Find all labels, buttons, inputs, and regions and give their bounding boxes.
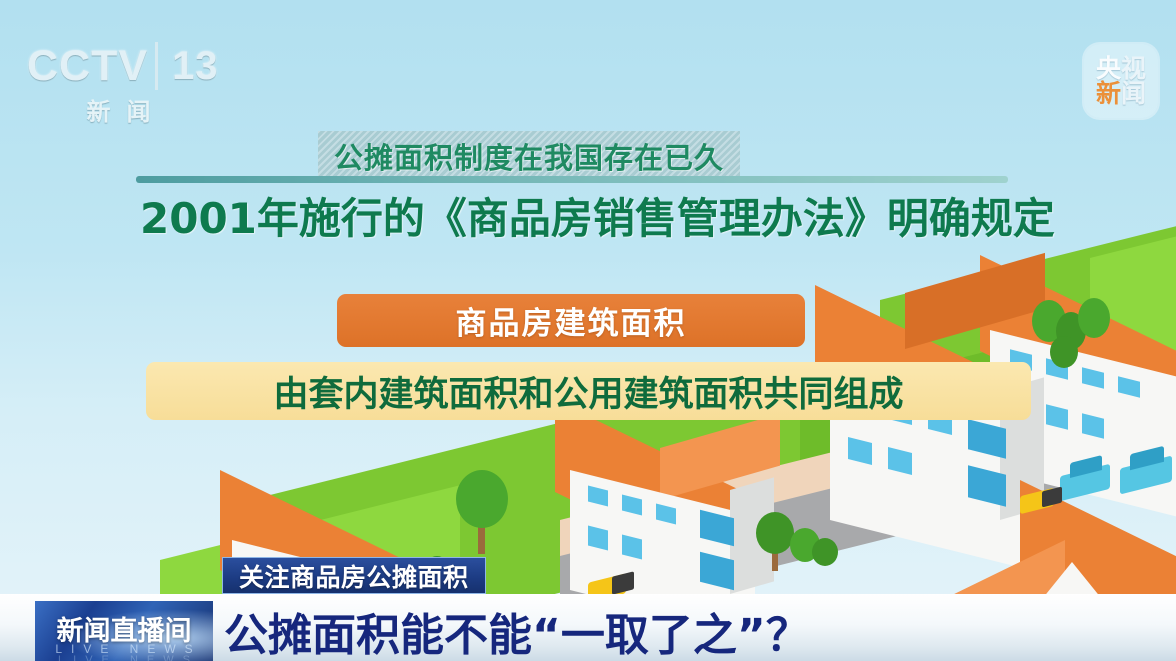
cctv13-channel-logo: CCTV 13 新闻 bbox=[27, 42, 212, 130]
app-watermark-char-shi: 视 bbox=[1121, 56, 1146, 81]
cctv-news-app-watermark: 央 视 新 闻 bbox=[1084, 44, 1158, 118]
program-name-english-shadow: LIVE NEWS bbox=[35, 654, 213, 661]
program-station-bug: 新闻直播间 LIVE NEWS LIVE NEWS bbox=[35, 601, 213, 661]
app-watermark-char-wen: 闻 bbox=[1121, 81, 1146, 106]
lower-third-topic-banner: 关注商品房公摊面积 bbox=[222, 557, 486, 594]
cctv-logo-wordmark: CCTV 13 bbox=[27, 42, 212, 90]
app-watermark-char-yang: 央 bbox=[1096, 56, 1121, 81]
app-watermark-row-top: 央 视 bbox=[1096, 56, 1146, 81]
tv-broadcast-frame: CCTV 13 新闻 央 视 新 闻 公摊面积制度在我国存在已久 2001年施行… bbox=[0, 0, 1176, 661]
app-watermark-char-xin: 新 bbox=[1096, 81, 1121, 106]
graphic-divider-rule bbox=[136, 176, 1008, 183]
graphic-orange-banner: 商品房建筑面积 bbox=[337, 294, 805, 347]
tree-crown bbox=[1050, 336, 1078, 368]
cctv-channel-number: 13 bbox=[155, 42, 229, 90]
tree-crown bbox=[812, 538, 838, 566]
cctv-logo-subtext: 新闻 bbox=[27, 92, 212, 127]
app-watermark-row-bottom: 新 闻 bbox=[1096, 81, 1146, 106]
graphic-yellow-banner: 由套内建筑面积和公用建筑面积共同组成 bbox=[146, 362, 1031, 420]
cctv-logo-text: CCTV bbox=[27, 42, 148, 90]
tree-crown bbox=[456, 470, 508, 528]
lower-third-headline-text: 公摊面积能不能“一取了之”？ bbox=[224, 599, 810, 661]
tree-crown bbox=[1078, 298, 1110, 338]
graphic-orange-banner-text: 商品房建筑面积 bbox=[456, 298, 687, 343]
graphic-yellow-banner-text: 由套内建筑面积和公用建筑面积共同组成 bbox=[273, 366, 903, 417]
graphic-subtitle: 公摊面积制度在我国存在已久 bbox=[334, 135, 724, 177]
graphic-main-title: 2001年施行的《商品房销售管理办法》明确规定 bbox=[140, 185, 1020, 246]
tree-crown bbox=[756, 512, 794, 554]
lower-third-topic-text: 关注商品房公摊面积 bbox=[239, 558, 469, 594]
